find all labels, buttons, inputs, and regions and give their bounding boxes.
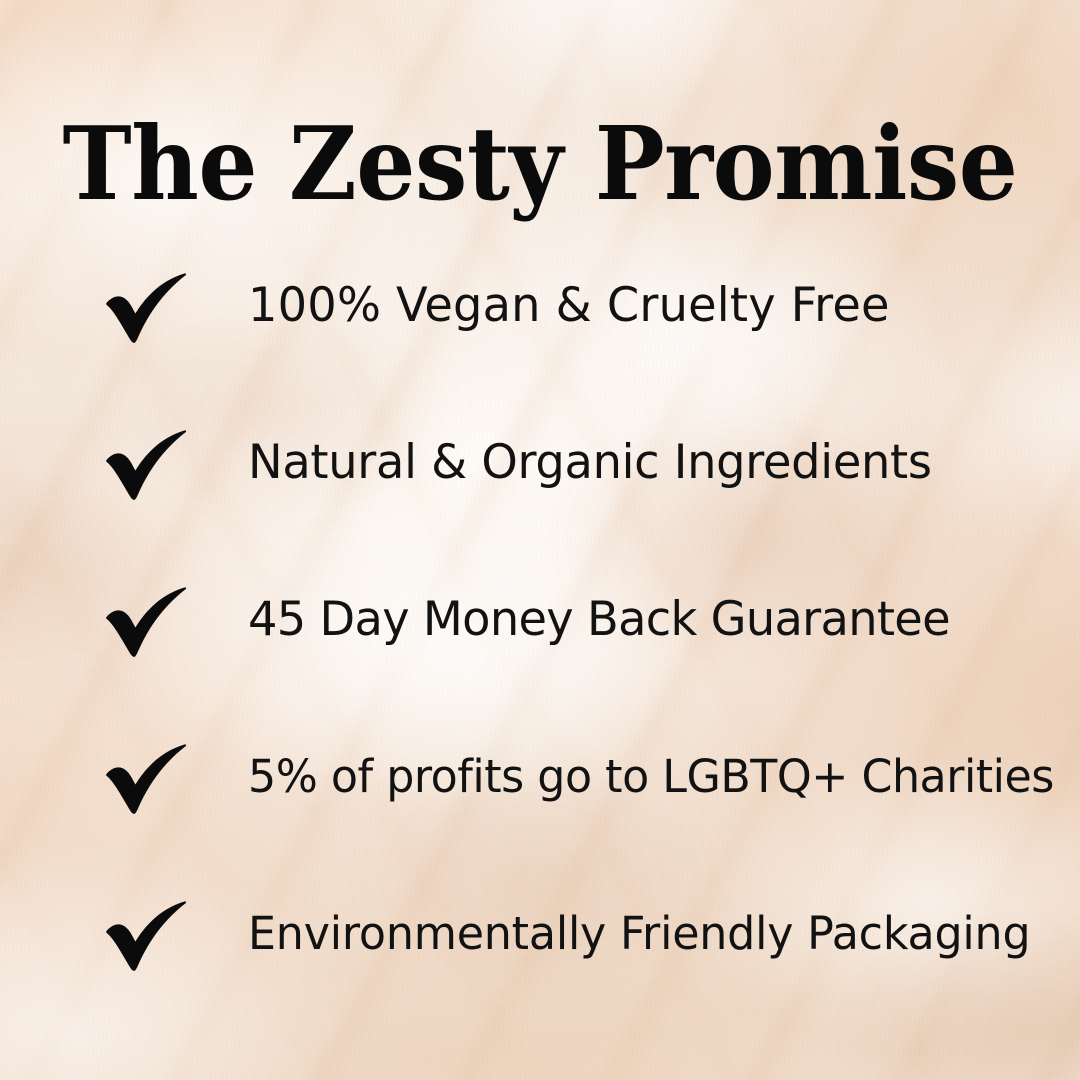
- promise-label: 5% of profits go to LGBTQ+ Charities: [248, 739, 1054, 815]
- list-item: Natural & Organic Ingredients: [0, 425, 1080, 582]
- list-item: 100% Vegan & Cruelty Free: [0, 268, 1080, 425]
- checkmark-cell: [0, 896, 248, 976]
- list-item: 5% of profits go to LGBTQ+ Charities: [0, 739, 1080, 896]
- zesty-promise-card: The Zesty Promise 100% Vegan & Cruelty F…: [0, 0, 1080, 1080]
- promise-label: Environmentally Friendly Packaging: [248, 896, 1030, 972]
- checkmark-cell: [0, 582, 248, 662]
- card-content: The Zesty Promise 100% Vegan & Cruelty F…: [0, 0, 1080, 1080]
- promise-label: Natural & Organic Ingredients: [248, 425, 932, 501]
- checkmark-icon: [104, 744, 188, 814]
- checkmark-icon: [104, 587, 188, 657]
- checkmark-cell: [0, 739, 248, 819]
- promise-label: 45 Day Money Back Guarantee: [248, 582, 950, 658]
- promise-label: 100% Vegan & Cruelty Free: [248, 268, 890, 344]
- checkmark-icon: [104, 273, 188, 343]
- checkmark-cell: [0, 425, 248, 505]
- checkmark-icon: [104, 901, 188, 971]
- list-item: 45 Day Money Back Guarantee: [0, 582, 1080, 739]
- checkmark-cell: [0, 268, 248, 348]
- page-title: The Zesty Promise: [0, 113, 1080, 214]
- promise-list: 100% Vegan & Cruelty Free Natural & Orga…: [0, 268, 1080, 1053]
- checkmark-icon: [104, 430, 188, 500]
- list-item: Environmentally Friendly Packaging: [0, 896, 1080, 1053]
